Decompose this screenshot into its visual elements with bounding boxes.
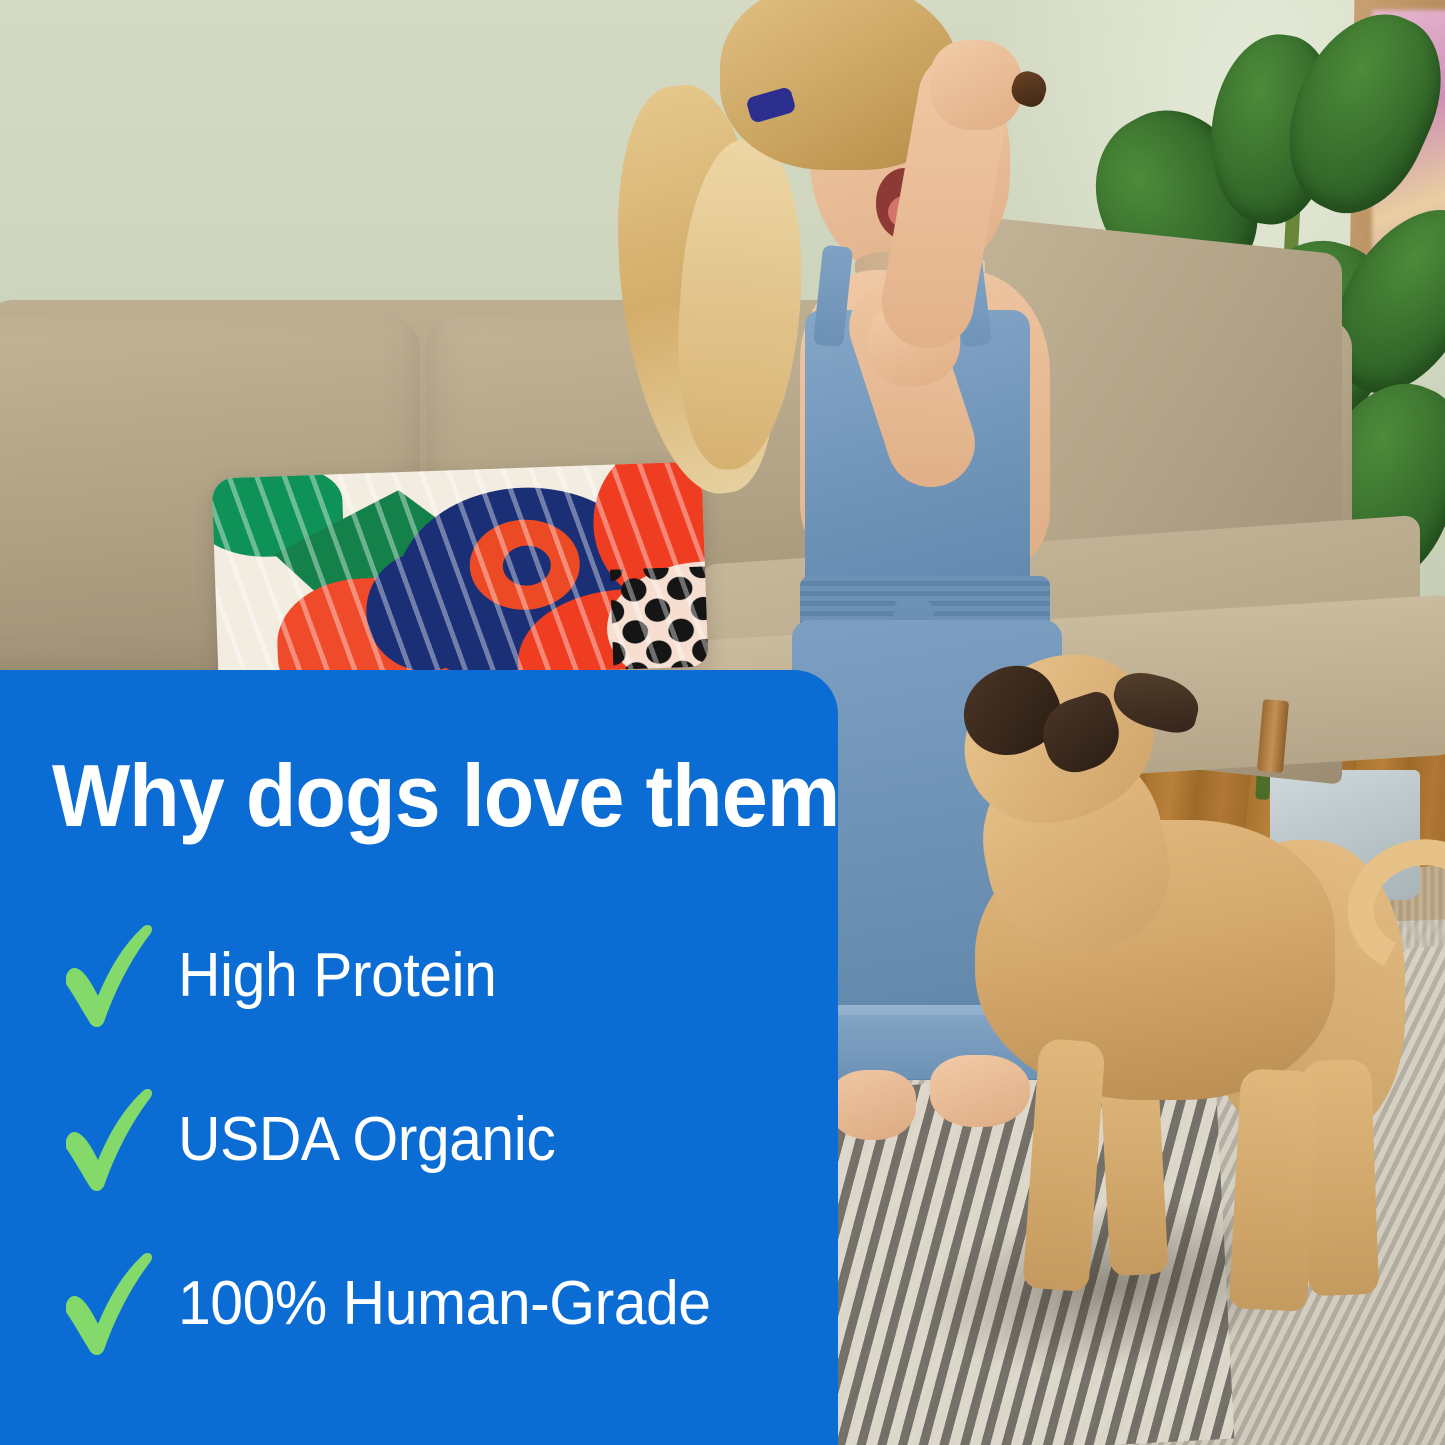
benefit-label: High Protein xyxy=(178,945,496,1007)
check-mark-icon xyxy=(60,924,178,1028)
panel-headline: Why dogs love them xyxy=(52,752,839,840)
girl-foot xyxy=(828,1070,916,1140)
benefit-item: 100% Human-Grade xyxy=(60,1246,840,1362)
benefit-item: USDA Organic xyxy=(60,1082,840,1198)
check-mark-icon xyxy=(60,1088,178,1192)
benefit-item: High Protein xyxy=(60,918,840,1034)
benefits-list: High Protein USDA Organic xyxy=(60,918,840,1362)
benefits-panel: Why dogs love them High Protein xyxy=(0,670,838,1445)
benefit-label: 100% Human-Grade xyxy=(178,1273,711,1335)
dog xyxy=(935,640,1445,1420)
girl-hand-raised xyxy=(930,40,1022,130)
product-lifestyle-image: Why dogs love them High Protein xyxy=(0,0,1445,1445)
benefit-label: USDA Organic xyxy=(178,1109,555,1171)
check-mark-icon xyxy=(60,1252,178,1356)
